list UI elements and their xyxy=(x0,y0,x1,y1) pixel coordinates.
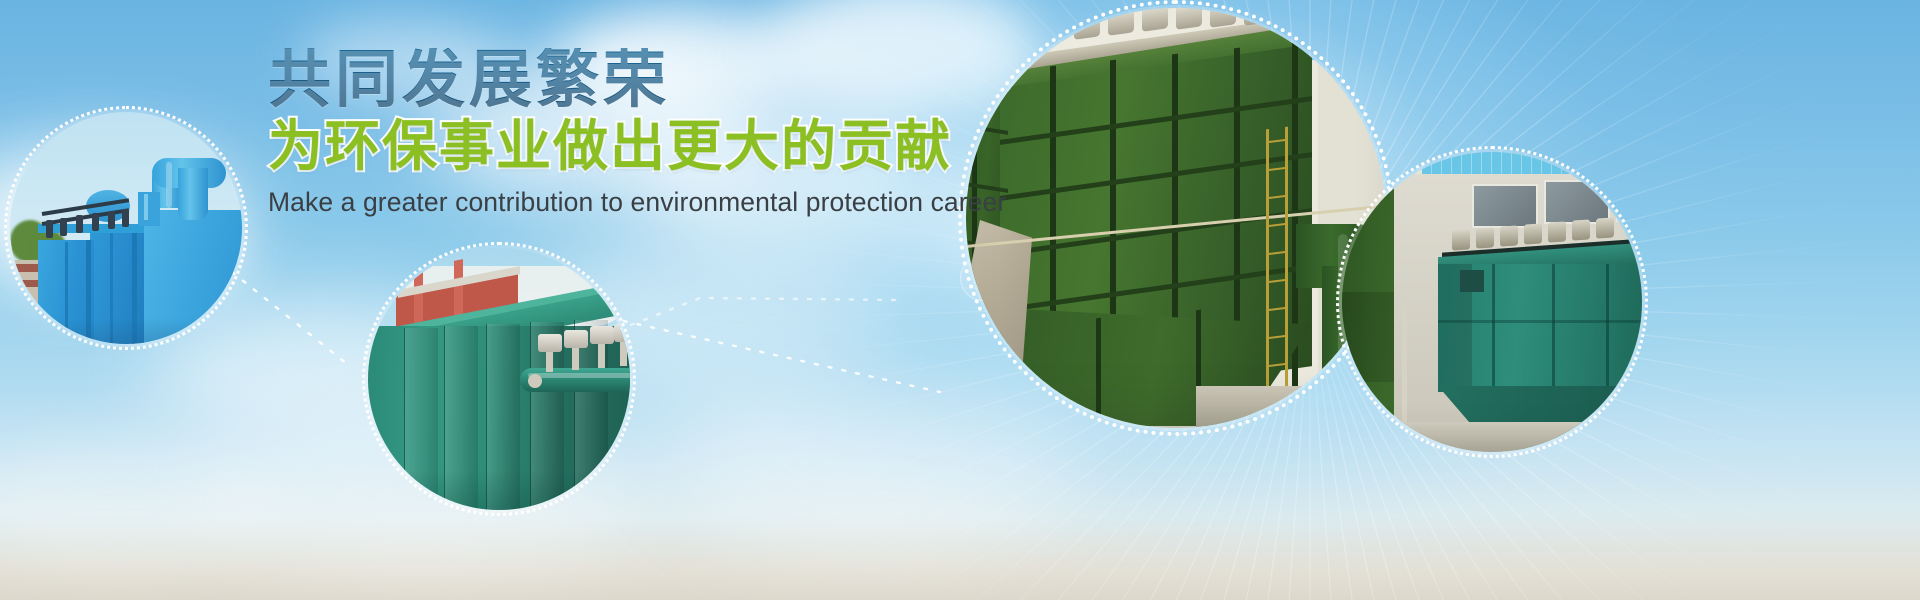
headline-text-block: 共同发展繁荣 为环保事业做出更大的贡献 Make a greater contr… xyxy=(268,48,988,217)
photo-green-dust-collector-large xyxy=(966,8,1386,428)
photo-blue-dust-collector xyxy=(10,112,242,344)
photo-teal-dust-collector xyxy=(368,248,630,510)
promotional-banner: 共同发展繁荣 为环保事业做出更大的贡献 Make a greater contr… xyxy=(0,0,1920,600)
subtitle-english: Make a greater contribution to environme… xyxy=(268,188,988,217)
subtitle-chinese: 为环保事业做出更大的贡献 xyxy=(268,118,988,176)
photo-teal-dust-collector-2 xyxy=(1342,152,1642,452)
page-title: 共同发展繁荣 xyxy=(268,48,988,111)
